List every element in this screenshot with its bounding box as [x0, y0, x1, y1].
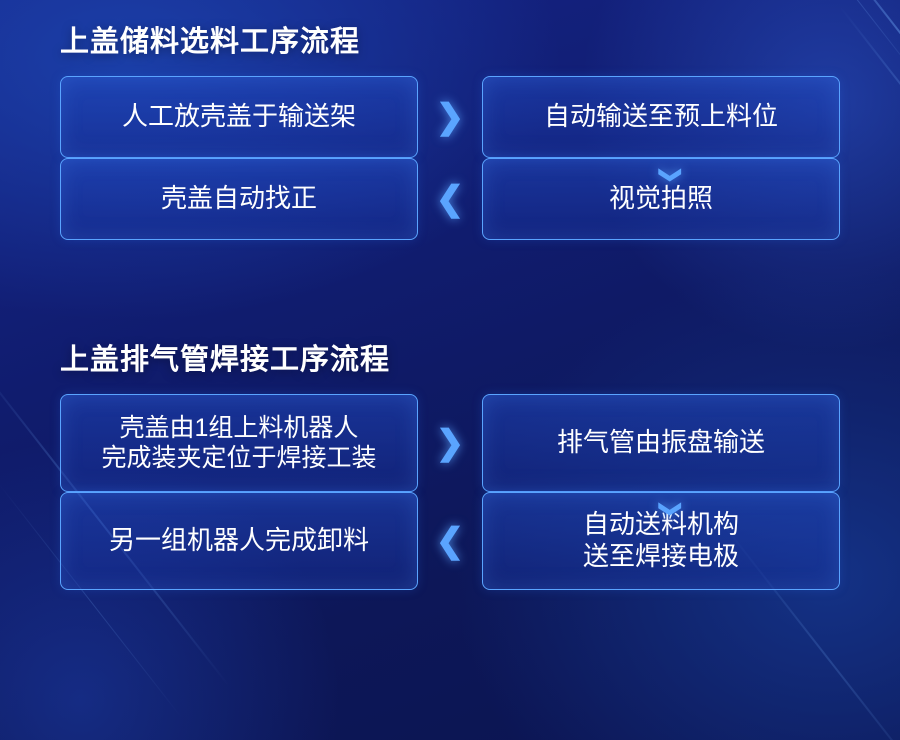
flow-grid: 壳盖由1组上料机器人 完成装夹定位于焊接工装 ❯ 排气管由振盘输送 ❯ 另一组机… [60, 394, 840, 590]
chevron-down-icon: ❯ [660, 500, 682, 518]
section-title: 上盖排气管焊接工序流程 [60, 336, 900, 378]
flow-row: 壳盖自动找正 ❮ 视觉拍照 [60, 158, 840, 240]
flow-grid: 人工放壳盖于输送架 ❯ 自动输送至预上料位 ❯ 壳盖自动找正 ❮ 视觉拍照 [60, 76, 840, 240]
connector-right: ❯ [418, 100, 482, 134]
chevron-left-icon: ❮ [436, 524, 465, 558]
section-storage-selection: 上盖储料选料工序流程 人工放壳盖于输送架 ❯ 自动输送至预上料位 ❯ 壳盖自动找… [0, 18, 900, 240]
connector-left: ❮ [418, 182, 482, 216]
flow-step-auto-convey[interactable]: 自动输送至预上料位 [482, 76, 840, 158]
flow-row: 壳盖由1组上料机器人 完成装夹定位于焊接工装 ❯ 排气管由振盘输送 [60, 394, 840, 492]
connector-right: ❯ [418, 426, 482, 460]
flow-step-robot-load-fixture[interactable]: 壳盖由1组上料机器人 完成装夹定位于焊接工装 [60, 394, 418, 492]
flow-diagram-canvas: 上盖储料选料工序流程 人工放壳盖于输送架 ❯ 自动输送至预上料位 ❯ 壳盖自动找… [0, 0, 900, 740]
section-exhaust-pipe-welding: 上盖排气管焊接工序流程 壳盖由1组上料机器人 完成装夹定位于焊接工装 ❯ 排气管… [0, 336, 900, 590]
flow-row: 人工放壳盖于输送架 ❯ 自动输送至预上料位 [60, 76, 840, 158]
connector-left: ❮ [418, 524, 482, 558]
flow-step-vibrating-plate-feed[interactable]: 排气管由振盘输送 [482, 394, 840, 492]
chevron-left-icon: ❮ [436, 182, 465, 216]
chevron-right-icon: ❯ [436, 100, 465, 134]
section-title: 上盖储料选料工序流程 [60, 18, 900, 60]
flow-row: 另一组机器人完成卸料 ❮ 自动送料机构 送至焊接电极 [60, 492, 840, 590]
flow-step-manual-place[interactable]: 人工放壳盖于输送架 [60, 76, 418, 158]
chevron-right-icon: ❯ [436, 426, 465, 460]
flow-step-robot-unload[interactable]: 另一组机器人完成卸料 [60, 492, 418, 590]
chevron-down-icon: ❯ [660, 166, 682, 184]
flow-step-auto-align[interactable]: 壳盖自动找正 [60, 158, 418, 240]
